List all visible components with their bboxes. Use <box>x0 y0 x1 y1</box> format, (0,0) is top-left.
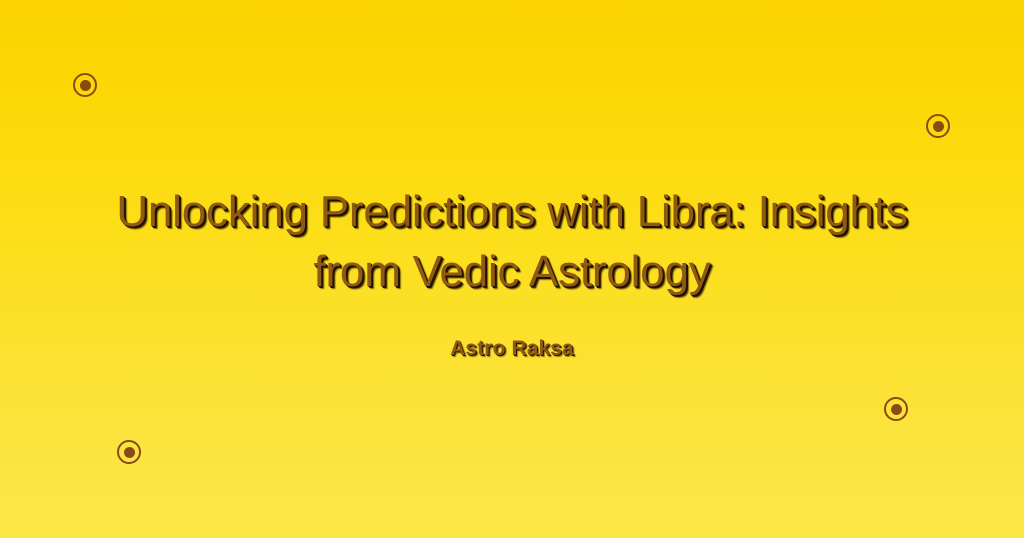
slide-title: Unlocking Predictions with Libra: Insigh… <box>72 182 952 302</box>
presentation-slide: Unlocking Predictions with Libra: Insigh… <box>0 0 1024 538</box>
slide-text-block: Unlocking Predictions with Libra: Insigh… <box>0 0 1024 538</box>
slide-subtitle: Astro Raksa <box>450 336 574 362</box>
